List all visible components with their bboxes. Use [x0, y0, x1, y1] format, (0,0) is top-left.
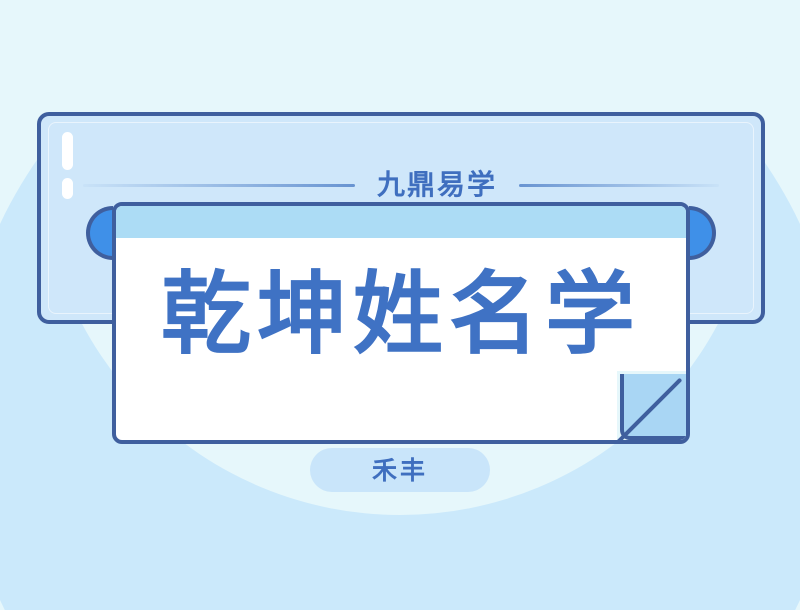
card-top-bar — [116, 206, 686, 238]
footer-pill: 禾丰 — [310, 448, 490, 492]
divider-line-left — [83, 184, 355, 187]
main-title: 乾坤姓名学 — [116, 250, 686, 380]
divider-line-right — [519, 184, 719, 187]
brand-header-row: 九鼎易学 — [41, 164, 761, 206]
brand-title: 九鼎易学 — [355, 171, 519, 199]
poster-canvas: 九鼎易学 乾坤姓名学 禾丰 — [0, 0, 800, 610]
footer-pill-label: 禾丰 — [372, 458, 428, 483]
main-card: 乾坤姓名学 — [112, 202, 690, 444]
main-card-group: 乾坤姓名学 — [112, 202, 690, 444]
